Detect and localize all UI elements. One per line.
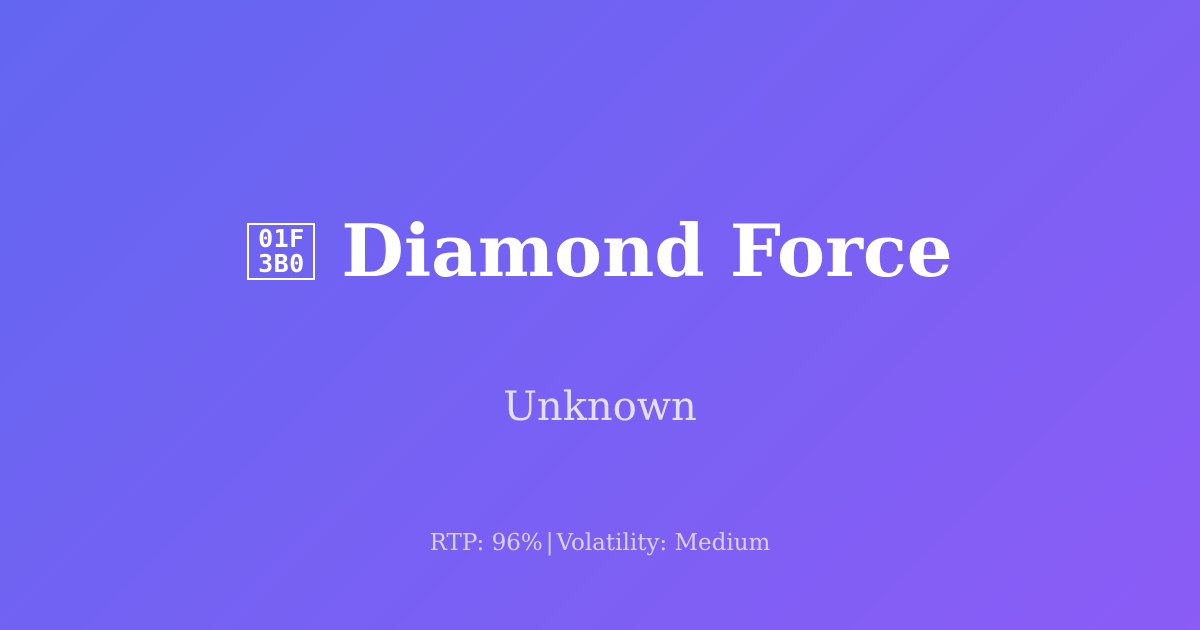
rtp-stat: RTP: 96% [430, 530, 543, 556]
stat-separator: | [543, 530, 557, 556]
page-title: Diamond Force [341, 214, 952, 289]
volatility-stat: Volatility: Medium [556, 530, 770, 556]
slot-machine-icon-codepoint-bottom: 3B0 [258, 251, 305, 276]
game-og-card: 01F 3B0 Diamond Force Unknown RTP: 96%|V… [0, 0, 1200, 630]
game-provider-label: Unknown [503, 385, 697, 429]
slot-machine-icon-codepoint-top: 01F [258, 226, 305, 251]
title-row: 01F 3B0 Diamond Force [247, 165, 952, 336]
game-stats-line: RTP: 96%|Volatility: Medium [0, 530, 1200, 556]
slot-machine-icon: 01F 3B0 [247, 223, 315, 280]
